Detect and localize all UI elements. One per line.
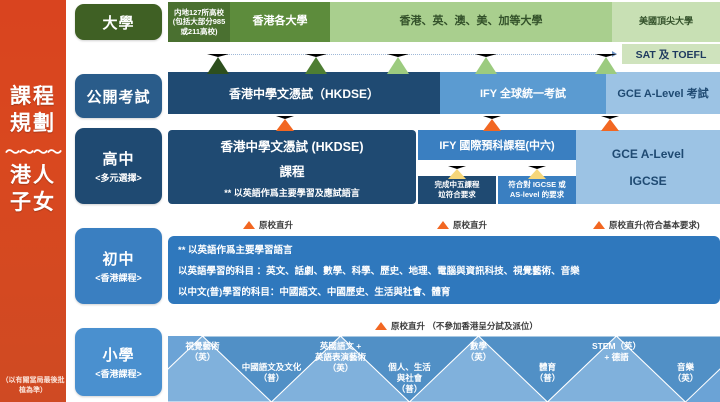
promotion-arrow-icon bbox=[375, 322, 387, 330]
exam-cell-hkdse-text: 香港中學文憑試（HKDSE） bbox=[229, 85, 379, 102]
exam-cell-hkdse: 香港中學文憑試（HKDSE） bbox=[168, 72, 440, 114]
side-title-line2: 規劃 bbox=[10, 111, 56, 138]
row-label-university: 大學 bbox=[75, 4, 162, 40]
row-label-junior-sub: <香港課程> bbox=[95, 271, 142, 284]
sat-toefl-text: SAT 及 TOEFL bbox=[636, 47, 707, 62]
university-cell-hongkong-text: 香港各大學 bbox=[253, 15, 308, 29]
promotion-label-text: 原校直升(符合基本要求) bbox=[609, 219, 700, 231]
side-sub-line2: 子女 bbox=[10, 190, 56, 217]
university-cell-overseas: 香港、英、澳、美、加等大學 bbox=[330, 2, 612, 42]
side-wave-divider: 〜〜〜〜 bbox=[5, 141, 61, 162]
senior-hkdse-line2: 課程 bbox=[168, 161, 416, 180]
primary-subject-7: STEM（英） + 德語 bbox=[582, 341, 651, 363]
promotion-label-3: 原校直升(符合基本要求) bbox=[593, 219, 700, 231]
primary-subject-8: 音樂 （英） bbox=[651, 362, 720, 384]
row-label-public-exam: 公開考試 bbox=[75, 74, 162, 118]
primary-subjects-zone: 視覺藝術 （英）中國語文及文化 （普）英國語文 + 英語表演藝術 （英）個人、生… bbox=[168, 336, 720, 402]
promotion-label-text: 原校直升 bbox=[453, 219, 487, 231]
university-cell-us-top: 美國頂尖大學 bbox=[612, 2, 720, 42]
row-label-senior-text: 高中 bbox=[102, 148, 134, 169]
university-cell-overseas-text: 香港、英、澳、美、加等大學 bbox=[400, 15, 543, 29]
primary-subject-1: 視覺藝術 （英） bbox=[168, 341, 237, 363]
side-sub-line1: 港人 bbox=[10, 163, 56, 190]
primary-subject-6: 體育 （普） bbox=[513, 362, 582, 384]
junior-line-2: 以英語學習的科目 ：英文、話劇、數學、科學、歷史、地理、電腦與資訊科技、視覺藝術… bbox=[178, 263, 720, 277]
orange-arrow-1 bbox=[276, 116, 294, 131]
side-banner-subtitle: 港人 子女 bbox=[10, 163, 56, 217]
senior-note-complete-s5: 完成中五課程 竝符合要求 bbox=[418, 176, 496, 204]
green-arrow-5 bbox=[595, 54, 617, 74]
green-arrow-1 bbox=[207, 54, 229, 74]
exam-cell-ify-text: IFY 全球統一考試 bbox=[480, 85, 566, 101]
row-label-primary-sub: <香港課程> bbox=[95, 367, 142, 380]
exam-cell-ify: IFY 全球統一考試 bbox=[440, 72, 606, 114]
side-banner-footnote: （以有關當局最後批植為準） bbox=[0, 376, 66, 395]
senior-hkdse-line3: ** 以英語作爲主要學習及應試語言 bbox=[168, 186, 416, 199]
promotion-label-text: 原校直升 bbox=[259, 219, 293, 231]
junior-line-3: 以中文(普)學習的科目：中國語文、中國歷史、生活與社會、體育 bbox=[178, 284, 720, 298]
primary-subject-4: 個人、生活 與社會 （普） bbox=[375, 362, 444, 395]
senior-alevel-line1: GCE A-Level bbox=[576, 147, 720, 161]
primary-subject-3: 英國語文 + 英語表演藝術 （英） bbox=[306, 341, 375, 374]
senior-note-igcse-requirement-text: 符合對 IGCSE 或 AS-level 的要求 bbox=[508, 180, 566, 200]
exam-cell-gce-alevel: GCE A-Level 考試 bbox=[606, 72, 720, 114]
senior-cell-ify-foundation: IFY 國際預科課程(中六) bbox=[418, 130, 576, 160]
senior-cell-hkdse-curriculum: 香港中學文憑試 (HKDSE) 課程 ** 以英語作爲主要學習及應試語言 bbox=[168, 130, 416, 204]
senior-note-igcse-requirement: 符合對 IGCSE 或 AS-level 的要求 bbox=[498, 176, 576, 204]
university-cell-hongkong: 香港各大學 bbox=[230, 2, 330, 42]
sat-toefl-badge: SAT 及 TOEFL bbox=[622, 44, 720, 64]
promotion-arrow-icon bbox=[593, 221, 605, 229]
row-label-junior-secondary: 初中 <香港課程> bbox=[75, 228, 162, 304]
row-label-senior-secondary: 高中 <多元選擇> bbox=[75, 128, 162, 204]
dotted-connector-line bbox=[216, 54, 612, 55]
senior-alevel-line2: IGCSE bbox=[576, 174, 720, 188]
side-title-line1: 課程 bbox=[10, 84, 56, 111]
senior-note-complete-s5-text: 完成中五課程 竝符合要求 bbox=[435, 180, 480, 200]
senior-cell-alevel-igcse: GCE A-Level IGCSE bbox=[576, 130, 720, 204]
exam-cell-gce-alevel-text: GCE A-Level 考試 bbox=[617, 85, 708, 101]
dotted-connector-arrow bbox=[612, 51, 617, 57]
row-label-primary-text: 小學 bbox=[102, 344, 134, 365]
promotion-label-2: 原校直升 bbox=[437, 219, 487, 231]
senior-ify-title: IFY 國際預科課程(中六) bbox=[439, 137, 554, 153]
row-label-junior-text: 初中 bbox=[102, 248, 134, 269]
orange-arrow-3 bbox=[601, 116, 619, 131]
primary-subject-2: 中國語文及文化 （普） bbox=[237, 362, 306, 384]
university-cell-mainland: 内地127所高校(包括大部分985或211高校) bbox=[168, 2, 230, 42]
row-label-exam-text: 公開考試 bbox=[86, 86, 150, 107]
green-arrow-4 bbox=[475, 54, 497, 74]
side-banner-title: 課程 規劃 bbox=[10, 84, 56, 138]
junior-content-box: ** 以英語作爲主要學習語言 以英語學習的科目 ：英文、話劇、數學、科學、歷史、… bbox=[168, 236, 720, 304]
university-cell-us-top-text: 美國頂尖大學 bbox=[639, 16, 693, 27]
junior-line-1: ** 以英語作爲主要學習語言 bbox=[178, 242, 720, 256]
row-label-university-text: 大學 bbox=[102, 12, 134, 33]
promotion-label-4: 原校直升 （不參加香港呈分試及派位） bbox=[375, 320, 538, 332]
promotion-label-1: 原校直升 bbox=[243, 219, 293, 231]
senior-hkdse-line1: 香港中學文憑試 (HKDSE) bbox=[168, 136, 416, 155]
promotion-arrow-icon bbox=[243, 221, 255, 229]
promotion-arrow-icon bbox=[437, 221, 449, 229]
side-banner: 課程 規劃 〜〜〜〜 港人 子女 （以有關當局最後批植為準） bbox=[0, 0, 66, 402]
green-arrow-3 bbox=[387, 54, 409, 74]
row-label-senior-sub: <多元選擇> bbox=[95, 171, 142, 184]
primary-subject-5: 數學 （英） bbox=[444, 341, 513, 363]
green-arrow-2 bbox=[305, 54, 327, 74]
promotion-label-text: 原校直升 （不參加香港呈分試及派位） bbox=[391, 320, 538, 332]
university-cell-mainland-text: 内地127所高校(包括大部分985或211高校) bbox=[171, 8, 227, 36]
orange-arrow-2 bbox=[483, 116, 501, 131]
row-label-primary: 小學 <香港課程> bbox=[75, 328, 162, 396]
